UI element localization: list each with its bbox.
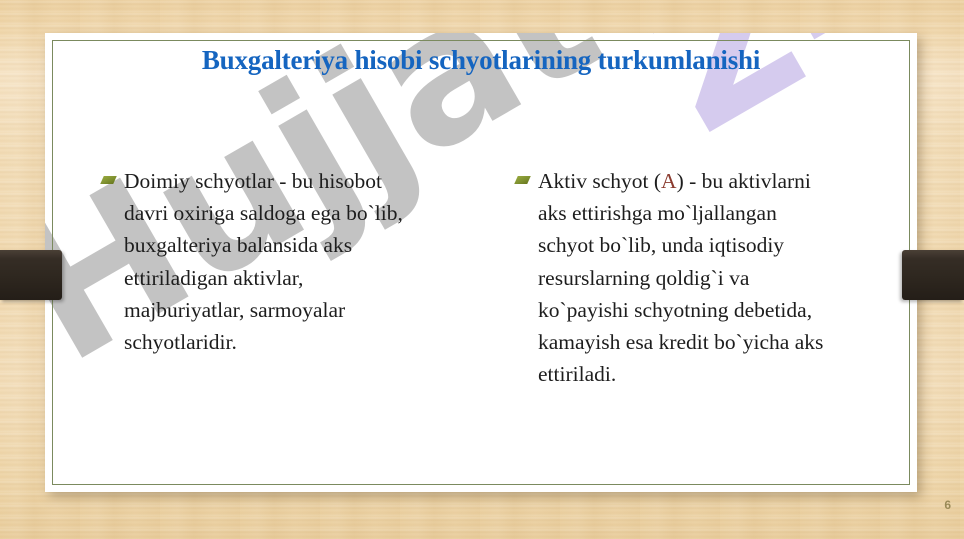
slide-canvas: Hujjat 24 Buxgalteriya hisobi schyotlari… — [0, 0, 964, 539]
right-clip-decoration — [902, 250, 964, 300]
bullet-column-left: Doimiy schyotlar - bu hisobot davri oxir… — [45, 165, 481, 358]
content-panel: Hujjat 24 Buxgalteriya hisobi schyotlari… — [45, 33, 917, 492]
bullet-text-left: Doimiy schyotlar - bu hisobot davri oxir… — [124, 165, 424, 358]
bullet-right-highlight: A — [661, 169, 677, 193]
bullet-left-body: Doimiy schyotlar - bu hisobot davri oxir… — [124, 169, 403, 354]
page-number: 6 — [944, 498, 951, 512]
bullet-columns: Doimiy schyotlar - bu hisobot davri oxir… — [45, 165, 917, 390]
bullet-right-body-after: ) - bu aktivlarni aks ettirishga mo`ljal… — [538, 169, 823, 386]
bullet-right-body-before: Aktiv schyot ( — [538, 169, 661, 193]
parallelogram-bullet-icon — [514, 176, 531, 184]
bullet-column-right: Aktiv schyot (A) - bu aktivlarni aks ett… — [481, 165, 917, 390]
parallelogram-bullet-icon — [100, 176, 117, 184]
left-clip-decoration — [0, 250, 62, 300]
bullet-text-right: Aktiv schyot (A) - bu aktivlarni aks ett… — [538, 165, 828, 390]
page-title: Buxgalteriya hisobi schyotlarining turku… — [45, 45, 917, 76]
